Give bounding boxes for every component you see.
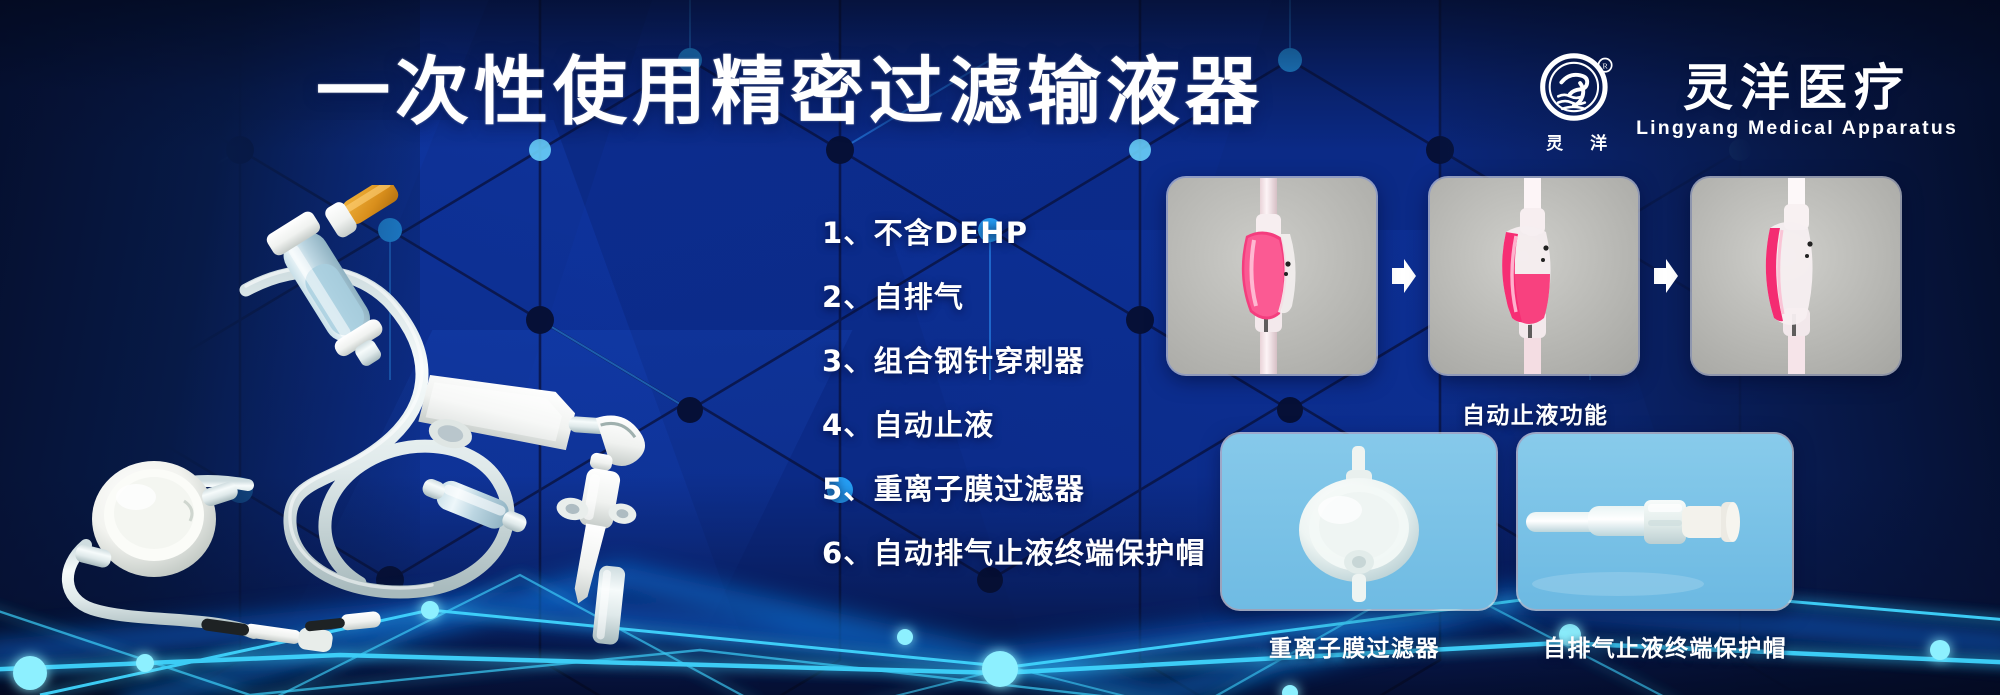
detail-card-caption: 自排气止液终端保护帽 [1543,629,1787,663]
feature-item: 1、不含DEHP [822,210,1206,252]
product-photo-infusion-set [40,185,800,655]
sequence-frame-2 [1430,178,1638,374]
detail-card-caption: 重离子膜过滤器 [1269,629,1440,663]
brand-name-en: Lingyang Medical Apparatus [1636,117,1958,140]
feature-item: 5、重离子膜过滤器 [822,466,1206,508]
sequence-caption: 自动止液功能 [1462,396,1608,430]
page-title: 一次性使用精密过滤输液器 [316,47,1264,137]
feature-item: 6、自动排气止液终端保护帽 [822,530,1206,572]
detail-card-filter [1222,434,1496,609]
feature-item: 2、自排气 [822,274,1206,316]
feature-item: 4、自动止液 [822,402,1206,444]
logo-sub-right: 洋 [1590,129,1608,154]
arrow-right-icon [1386,254,1420,298]
detail-card-list [1222,434,1792,609]
detail-card-protective-cap [1518,434,1792,609]
sequence-frame-3 [1692,178,1900,374]
feature-list: 1、不含DEHP 2、自排气 3、组合钢针穿刺器 4、自动止液 5、重离子膜过滤… [822,210,1206,572]
logo-sub-left: 灵 [1546,129,1564,154]
sequence-frame-1 [1168,178,1376,374]
brand-name-cn: 灵洋医疗 [1683,62,1911,115]
arrow-right-icon [1648,254,1682,298]
feature-item: 3、组合钢针穿刺器 [822,338,1206,380]
product-banner: 一次性使用精密过滤输液器 R 灵 洋 [0,0,2000,695]
brand-logo: R 灵 洋 灵洋医疗 Lingyang Medical Apparatus [1538,48,1958,154]
lingyang-circular-emblem-icon: R [1538,48,1616,126]
auto-stop-sequence [1168,178,1900,374]
brand-wordmark: 灵洋医疗 Lingyang Medical Apparatus [1636,62,1958,140]
logo-subtext: 灵 洋 [1546,129,1608,154]
logo-mark: R 灵 洋 [1538,48,1616,154]
svg-text:R: R [1603,61,1609,70]
